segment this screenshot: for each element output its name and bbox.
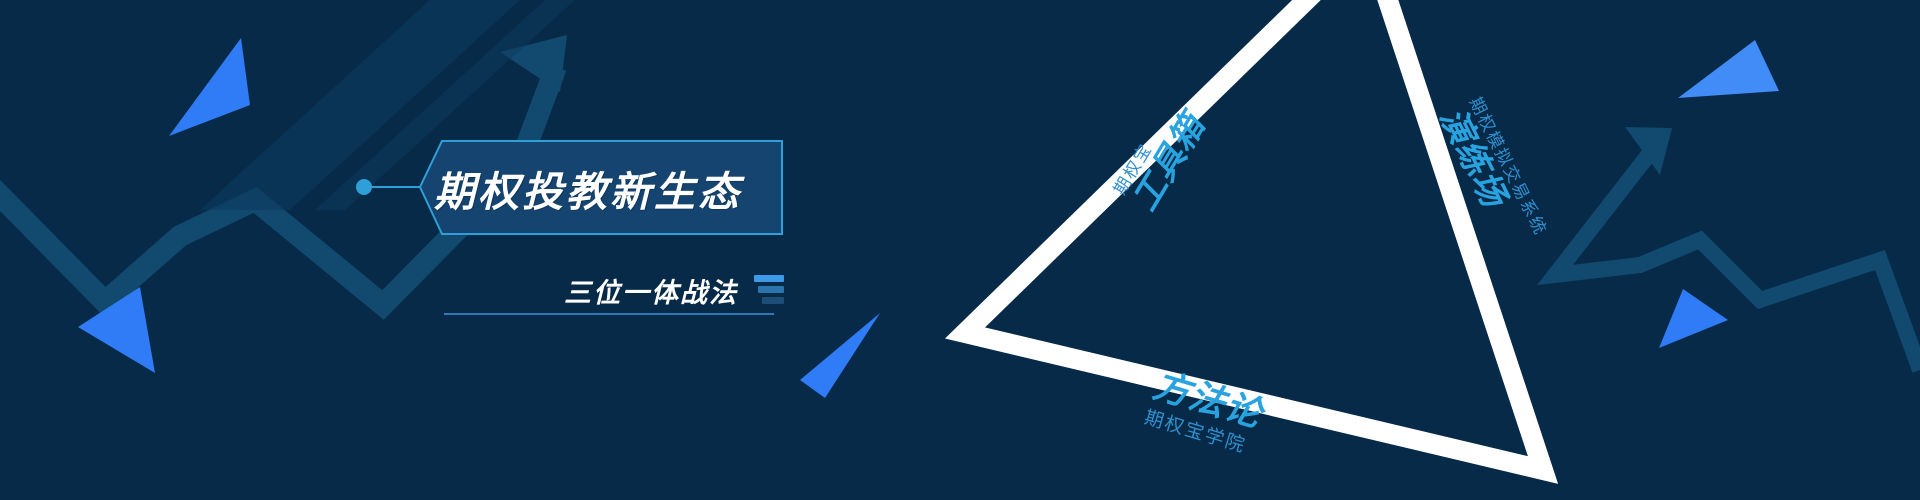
subtitle-divider (444, 313, 774, 315)
subtitle-text: 三位一体战法 (564, 271, 738, 310)
stacked-bars-icon (754, 275, 784, 306)
promo-banner: 期权投教新生态 三位一体战法 期权宝 工具箱 期权模拟交易系统 演练场 方法论 … (0, 0, 1920, 500)
headline-subtitle: 三位一体战法 (444, 260, 784, 320)
dot-connector-icon (0, 0, 1920, 500)
